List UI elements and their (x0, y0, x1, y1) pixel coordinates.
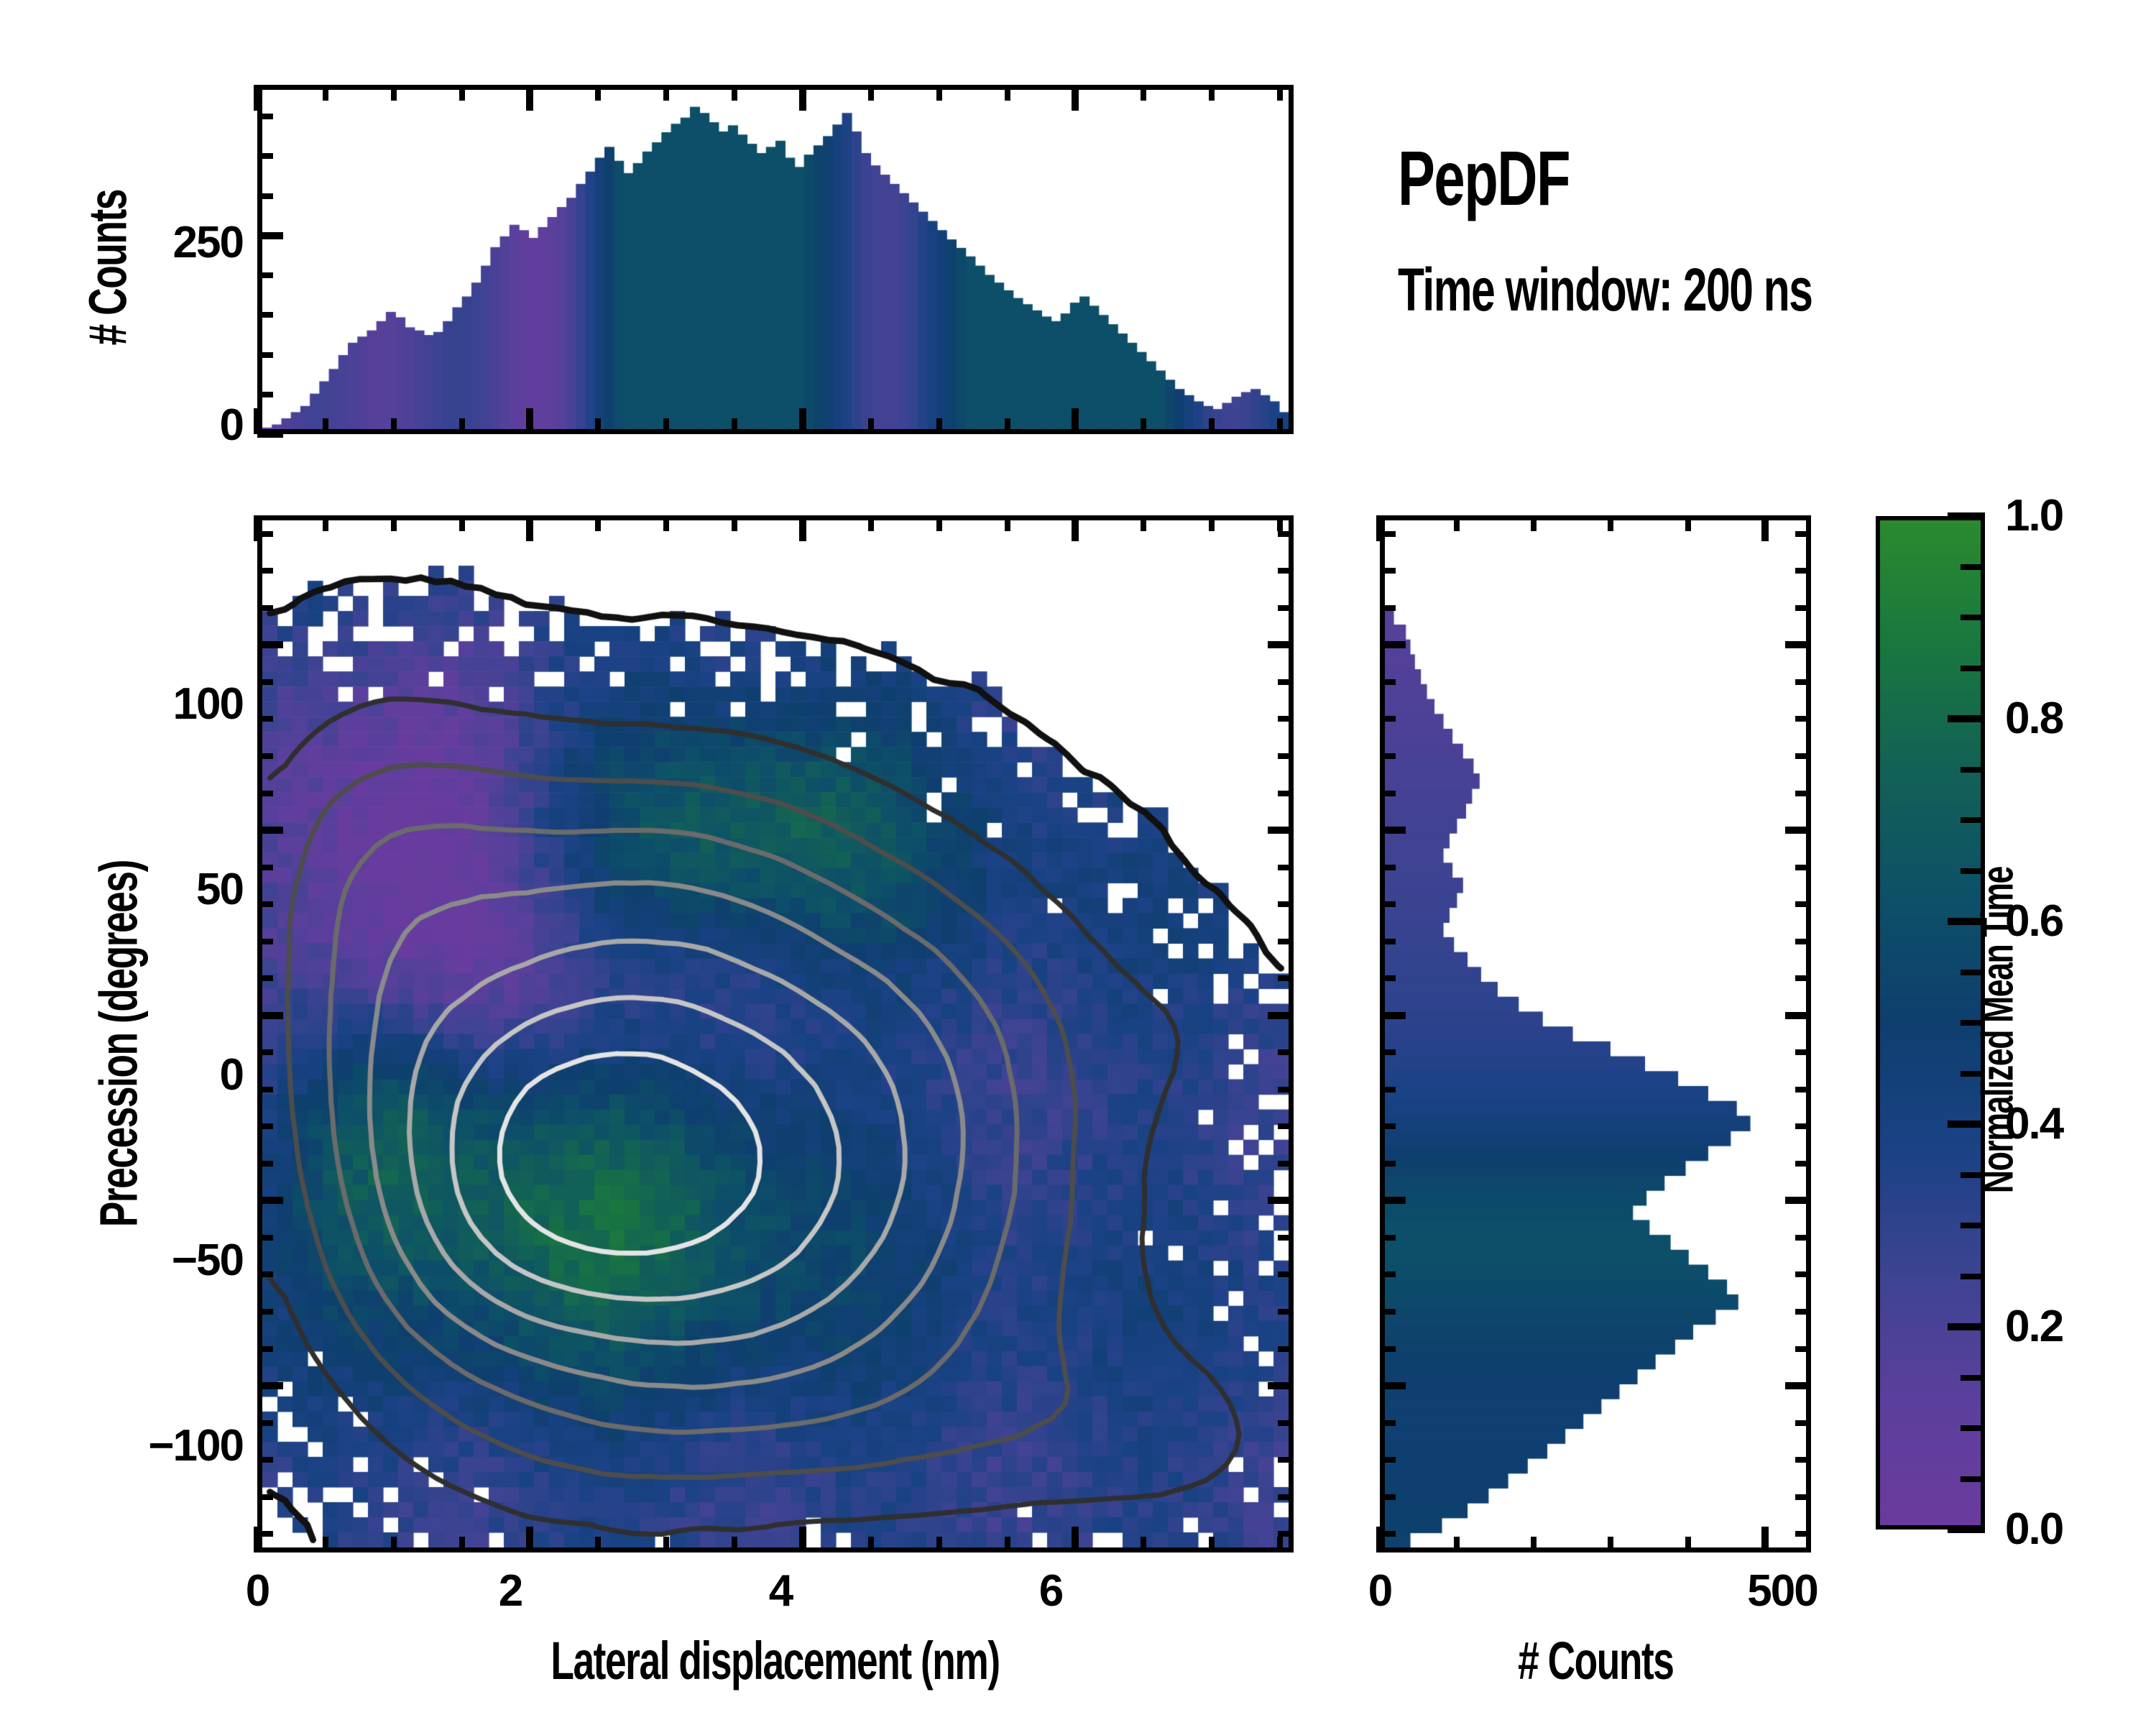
figure-subtitle: Time window: 200 ns (1398, 255, 1973, 325)
main-xtick-minor-top (1141, 515, 1146, 531)
top-hist-xtick-minor-top (663, 85, 669, 101)
main-ytick-right-2 (1268, 1012, 1294, 1019)
side-hist-ytick-major-2 (1380, 1012, 1406, 1019)
colorbar-tick-minor (1961, 564, 1985, 570)
colorbar-tick-0-6: 0.6 (2005, 896, 2156, 947)
side-hist-ytick-minor-right (1795, 531, 1811, 537)
side-hist-ytick-right-2 (1785, 1012, 1811, 1019)
main-xtick-2: 2 (489, 1565, 532, 1616)
colorbar-label: Normalized Mean Time (1973, 671, 2024, 1390)
side-hist-ytick-minor (1380, 975, 1396, 981)
main-xtick-minor (1005, 1537, 1010, 1552)
top-hist-xtick-minor-top (1141, 85, 1146, 101)
colorbar-tick-minor (1961, 767, 1985, 773)
main-xtick-6: 6 (1029, 1565, 1072, 1616)
top-hist-xtick-minor-top (1005, 85, 1010, 101)
main-xtick-top-0 (254, 515, 261, 541)
main-ytick-minor-right (1278, 1049, 1294, 1055)
main-xtick-minor-top (936, 515, 942, 531)
main-xtick-top-3 (1072, 515, 1079, 541)
main-xtick-top-2 (799, 515, 806, 541)
main-ytick-minor (257, 716, 273, 722)
main-xtick-minor-top (1277, 515, 1283, 531)
top-hist-xtick-minor-top (936, 85, 942, 101)
side-hist-ytick-minor (1380, 1457, 1396, 1463)
top-hist-xtick-minor-top (595, 85, 601, 101)
main-ytick-minor-right (1278, 605, 1294, 611)
side-hist-xtick-minor (1531, 1537, 1537, 1552)
main-ytick-minor (257, 975, 273, 981)
side-hist-ytick-minor-right (1795, 791, 1811, 796)
side-hist-xtick-major-1 (1761, 1527, 1769, 1552)
main-ytick-minor-right (1278, 1494, 1294, 1500)
side-hist-ytick-right-0 (1785, 641, 1811, 648)
main-ytick-minor-right (1278, 531, 1294, 537)
main-ytick-minor-right (1278, 1271, 1294, 1277)
side-hist-ytick-minor (1380, 1531, 1396, 1537)
colorbar-tick-minor (1961, 1071, 1985, 1077)
main-ylabel: Precession (degrees) (88, 484, 149, 1605)
main-ytick-minor-right (1278, 865, 1294, 870)
side-hist-ytick-minor-right (1795, 716, 1811, 722)
side-hist-ytick-minor (1380, 1346, 1396, 1352)
side-hist-xtick-top-1 (1761, 515, 1769, 541)
top-hist-xtick-minor (936, 418, 942, 434)
top-hist-xtick-top-2 (799, 85, 806, 111)
side-hist-ytick-minor-right (1795, 1049, 1811, 1055)
main-ytick-minor-right (1278, 1309, 1294, 1315)
main-xtick-0: 0 (236, 1565, 279, 1616)
top-hist-ytick-0: 0 (193, 400, 243, 451)
top-hist-xtick-major-1 (526, 408, 533, 434)
side-hist-ytick-minor-right (1795, 605, 1811, 611)
colorbar-tick-minor (1961, 970, 1985, 975)
side-hist-ytick-minor (1380, 716, 1396, 722)
main-xtick-minor-top (732, 515, 737, 531)
side-hist-ytick-minor (1380, 1494, 1396, 1500)
side-hist-ytick-minor (1380, 1049, 1396, 1055)
top-hist-xtick-minor-top (459, 85, 465, 101)
side-hist-ytick-minor (1380, 753, 1396, 759)
main-ytick-minor (257, 1309, 273, 1315)
side-hist-ytick-right-4 (1785, 1382, 1811, 1389)
top-hist-xtick-minor (1277, 418, 1283, 434)
main-ytick-minor (257, 939, 273, 944)
side-hist-ytick-minor (1380, 605, 1396, 611)
side-hist-ytick-minor (1380, 865, 1396, 870)
main-xtick-major-3 (1072, 1527, 1079, 1552)
main-ytick-minor (257, 1161, 273, 1167)
top-hist-ytick-250: 250 (128, 217, 243, 268)
side-hist-xtick-minor (1454, 1537, 1460, 1552)
main-ytick-minor-right (1278, 1087, 1294, 1092)
main-xtick-minor-top (323, 515, 328, 531)
side-histogram-plot (1385, 520, 1806, 1547)
side-hist-xtick-minor (1685, 1537, 1691, 1552)
main-xtick-minor-top (1209, 515, 1215, 531)
side-hist-ytick-right-3 (1785, 1197, 1811, 1204)
side-hist-ytick-minor (1380, 901, 1396, 907)
main-xtick-major-2 (799, 1527, 806, 1552)
side-hist-ytick-minor-right (1795, 753, 1811, 759)
top-hist-xtick-major-0 (254, 408, 261, 434)
main-xtick-minor-top (595, 515, 601, 531)
top-hist-ytick-minor (257, 153, 273, 159)
top-hist-xtick-minor-top (1209, 85, 1215, 101)
side-hist-xtick-500: 500 (1725, 1565, 1840, 1616)
colorbar-tick-major-0 (1948, 1526, 1985, 1533)
side-hist-ytick-minor (1380, 1087, 1396, 1092)
colorbar-tick-0-2: 0.2 (2005, 1301, 2156, 1352)
top-hist-xtick-minor-top (323, 85, 328, 101)
main-xtick-minor (936, 1537, 942, 1552)
colorbar-tick-minor (1961, 1223, 1985, 1228)
top-hist-xtick-minor (1141, 418, 1146, 434)
top-hist-ytick-major-0 (257, 431, 283, 438)
main-ytick-minor (257, 865, 273, 870)
main-ytick-minor-right (1278, 1123, 1294, 1129)
top-hist-xtick-minor (459, 418, 465, 434)
side-hist-ytick-minor (1380, 679, 1396, 685)
main-ytick-minor-right (1278, 901, 1294, 907)
side-hist-ytick-minor-right (1795, 1531, 1811, 1537)
main-ytick-minor (257, 679, 273, 685)
side-hist-xtick-minor-top (1531, 515, 1537, 531)
top-hist-ytick-minor (257, 193, 273, 199)
main-ytick-minor (257, 1420, 273, 1426)
side-hist-ytick-minor-right (1795, 1123, 1811, 1129)
main-ytick-minor-right (1278, 1235, 1294, 1241)
side-hist-ytick-minor-right (1795, 1271, 1811, 1277)
colorbar-tick-major-4 (1948, 715, 1985, 722)
side-hist-ytick-minor-right (1795, 939, 1811, 944)
side-hist-ytick-minor-right (1795, 865, 1811, 870)
main-ytick-right-4 (1268, 1382, 1294, 1389)
side-hist-ytick-minor (1380, 939, 1396, 944)
colorbar-tick-major-5 (1948, 512, 1985, 520)
colorbar-tick-minor (1961, 666, 1985, 671)
colorbar-tick-1-0: 1.0 (2005, 490, 2156, 541)
main-ytick-minor-right (1278, 679, 1294, 685)
main-ytick-minor-right (1278, 1346, 1294, 1352)
side-hist-xtick-minor (1608, 1537, 1613, 1552)
top-hist-xtick-minor (595, 418, 601, 434)
main-xtick-minor (323, 1537, 328, 1552)
side-hist-ytick-minor-right (1795, 1457, 1811, 1463)
side-hist-ytick-minor (1380, 1161, 1396, 1167)
main-ytick-minor (257, 1457, 273, 1463)
side-hist-ytick-minor-right (1795, 975, 1811, 981)
main-ytick-minor (257, 1049, 273, 1055)
top-hist-xtick-minor (663, 418, 669, 434)
colorbar-tick-minor (1961, 1172, 1985, 1178)
main-ytick-minor (257, 753, 273, 759)
main-xtick-minor (1277, 1537, 1283, 1552)
colorbar-tick-minor (1961, 1274, 1985, 1279)
figure-canvas: 0 250 # Counts 100 50 0 −50 −100 0 2 4 6… (0, 0, 2156, 1725)
side-hist-xlabel: # Counts (1380, 1630, 1811, 1691)
main-ytick-minor-right (1278, 753, 1294, 759)
side-hist-ytick-minor-right (1795, 1087, 1811, 1092)
main-xtick-minor (732, 1537, 737, 1552)
main-xtick-4: 4 (759, 1565, 802, 1616)
side-hist-ytick-minor-right (1795, 1346, 1811, 1352)
side-hist-ytick-minor (1380, 1271, 1396, 1277)
main-xtick-minor-top (391, 515, 397, 531)
main-ytick-minor-right (1278, 791, 1294, 796)
side-hist-xtick-minor-top (1608, 515, 1613, 531)
main-xtick-minor (459, 1537, 465, 1552)
colorbar-tick-minor (1961, 1476, 1985, 1482)
side-hist-ytick-major-1 (1380, 827, 1406, 834)
main-xtick-minor-top (459, 515, 465, 531)
top-hist-xtick-minor (1005, 418, 1010, 434)
main-ytick-minor-right (1278, 1457, 1294, 1463)
top-histogram-plot (262, 90, 1289, 429)
main-ytick-minor-right (1278, 975, 1294, 981)
main-xtick-minor (391, 1537, 397, 1552)
main-ytick-major-1 (257, 827, 283, 834)
side-hist-ytick-minor-right (1795, 568, 1811, 574)
main-ytick-right-0 (1268, 641, 1294, 648)
side-hist-ytick-major-0 (1380, 641, 1406, 648)
top-hist-xtick-minor (323, 418, 328, 434)
side-hist-xtick-minor-top (1454, 515, 1460, 531)
side-hist-ytick-minor-right (1795, 1309, 1811, 1315)
top-hist-xtick-minor (391, 418, 397, 434)
main-ytick-minor-right (1278, 716, 1294, 722)
side-hist-ytick-minor-right (1795, 1161, 1811, 1167)
side-hist-ytick-minor (1380, 1309, 1396, 1315)
top-hist-xtick-minor (1209, 418, 1215, 434)
main-ytick-major-3 (257, 1197, 283, 1204)
side-hist-ytick-right-1 (1785, 827, 1811, 834)
side-hist-ytick-minor-right (1795, 1235, 1811, 1241)
top-hist-ytick-major-1 (257, 232, 283, 239)
main-ytick-minor (257, 1346, 273, 1352)
main-ytick-right-1 (1268, 827, 1294, 834)
top-hist-ytick-minor (257, 114, 273, 119)
main-xtick-minor (663, 1537, 669, 1552)
main-ytick-right-3 (1268, 1197, 1294, 1204)
main-xtick-minor (868, 1537, 874, 1552)
top-hist-xtick-major-2 (799, 408, 806, 434)
top-hist-ytick-minor (257, 392, 273, 397)
main-xtick-minor (1209, 1537, 1215, 1552)
top-hist-xtick-minor-top (391, 85, 397, 101)
top-hist-ytick-minor (257, 352, 273, 358)
top-hist-ytick-minor (257, 272, 273, 278)
colorbar-tick-minor (1961, 817, 1985, 823)
main-heatmap-plot (262, 520, 1289, 1547)
main-ytick-major-2 (257, 1012, 283, 1019)
main-ytick-minor-right (1278, 939, 1294, 944)
main-ytick-minor-right (1278, 568, 1294, 574)
side-hist-ytick-minor-right (1795, 1494, 1811, 1500)
main-xtick-minor-top (663, 515, 669, 531)
side-hist-xtick-top-0 (1376, 515, 1383, 541)
side-hist-ytick-minor-right (1795, 901, 1811, 907)
main-xtick-minor (595, 1537, 601, 1552)
side-hist-ytick-minor (1380, 531, 1396, 537)
main-ytick-minor (257, 568, 273, 574)
main-xtick-major-0 (254, 1527, 261, 1552)
top-hist-xtick-minor-top (868, 85, 874, 101)
main-xtick-major-1 (526, 1527, 533, 1552)
colorbar-tick-minor (1961, 615, 1985, 620)
figure-title: PepDF (1398, 133, 1636, 223)
main-xlabel: Lateral displacement (nm) (257, 1630, 1294, 1691)
main-ytick-minor (257, 791, 273, 796)
top-hist-ylabel: # Counts (78, 117, 139, 419)
side-hist-xtick-0: 0 (1358, 1565, 1401, 1616)
colorbar-tick-minor (1961, 868, 1985, 874)
colorbar-tick-minor (1961, 1020, 1985, 1026)
top-hist-xtick-minor-top (1277, 85, 1283, 101)
side-hist-ytick-minor (1380, 791, 1396, 796)
side-hist-ytick-minor (1380, 1123, 1396, 1129)
top-hist-xtick-top-3 (1072, 85, 1079, 111)
top-hist-ytick-minor (257, 312, 273, 318)
main-xtick-top-1 (526, 515, 533, 541)
colorbar-tick-major-3 (1948, 918, 1985, 925)
main-ytick-minor (257, 1494, 273, 1500)
colorbar-tick-minor (1961, 1425, 1985, 1431)
main-ytick-minor (257, 1235, 273, 1241)
top-hist-xtick-minor (868, 418, 874, 434)
main-xtick-minor (1141, 1537, 1146, 1552)
main-ytick-minor (257, 605, 273, 611)
main-xtick-minor-top (868, 515, 874, 531)
colorbar-tick-minor (1961, 1375, 1985, 1381)
colorbar-tick-0-0: 0.0 (2005, 1504, 2156, 1555)
top-hist-xtick-major-3 (1072, 408, 1079, 434)
side-hist-ytick-major-3 (1380, 1197, 1406, 1204)
side-hist-ytick-minor (1380, 568, 1396, 574)
main-xtick-minor-top (1005, 515, 1010, 531)
side-hist-ytick-minor (1380, 1420, 1396, 1426)
main-ytick-minor (257, 1087, 273, 1092)
side-hist-ytick-minor-right (1795, 1420, 1811, 1426)
main-ytick-minor-right (1278, 1420, 1294, 1426)
side-hist-xtick-minor-top (1685, 515, 1691, 531)
main-ytick-minor-right (1278, 1161, 1294, 1167)
colorbar-tick-0-8: 0.8 (2005, 693, 2156, 744)
colorbar-tick-0-4: 0.4 (2005, 1098, 2156, 1149)
main-ytick-minor (257, 901, 273, 907)
main-ytick-major-4 (257, 1382, 283, 1389)
top-hist-xtick-minor-top (732, 85, 737, 101)
top-hist-xtick-minor (732, 418, 737, 434)
colorbar-tick-major-2 (1948, 1121, 1985, 1128)
main-ytick-major-0 (257, 641, 283, 648)
top-hist-xtick-top-0 (254, 85, 261, 111)
main-ytick-minor (257, 1123, 273, 1129)
colorbar-tick-major-1 (1948, 1323, 1985, 1330)
side-hist-ytick-minor-right (1795, 679, 1811, 685)
main-ytick-minor (257, 1271, 273, 1277)
top-hist-xtick-top-1 (526, 85, 533, 111)
side-hist-ytick-major-4 (1380, 1382, 1406, 1389)
side-hist-ytick-minor (1380, 1235, 1396, 1241)
